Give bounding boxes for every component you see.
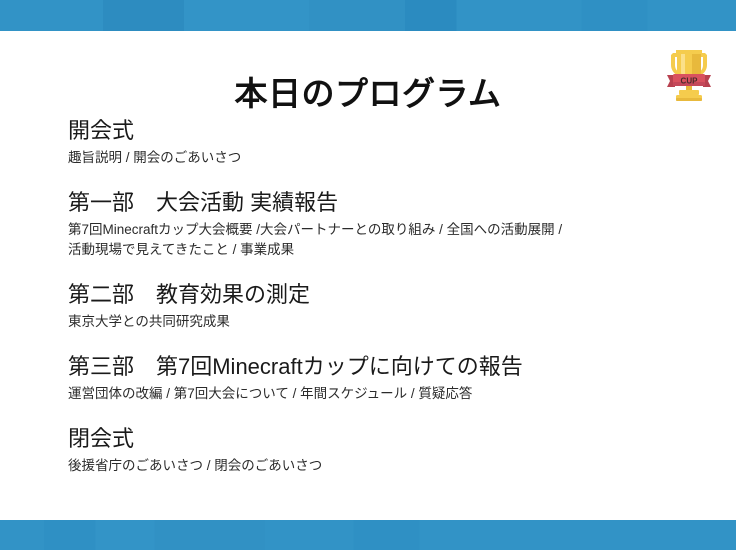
- page-title: 本日のプログラム: [0, 74, 736, 114]
- section-heading: 閉会式: [68, 424, 708, 454]
- program-section-part3: 第三部 第7回Minecraftカップに向けての報告 運営団体の改編 / 第7回…: [68, 352, 708, 404]
- top-accent-bar: [0, 0, 736, 31]
- section-detail: 趣旨説明 / 開会のごあいさつ: [68, 148, 708, 168]
- section-heading: 第三部 第7回Minecraftカップに向けての報告: [68, 352, 708, 382]
- detail-line: 後援省庁のごあいさつ / 閉会のごあいさつ: [68, 456, 708, 476]
- program-section-closing: 閉会式 後援省庁のごあいさつ / 閉会のごあいさつ: [68, 424, 708, 476]
- section-heading: 第一部 大会活動 実績報告: [68, 188, 708, 218]
- section-detail: 運営団体の改編 / 第7回大会について / 年間スケジュール / 質疑応答: [68, 384, 708, 404]
- program-section-opening: 開会式 趣旨説明 / 開会のごあいさつ: [68, 116, 708, 168]
- section-detail: 東京大学との共同研究成果: [68, 312, 708, 332]
- section-heading: 開会式: [68, 116, 708, 146]
- bottom-accent-bar: [0, 520, 736, 550]
- section-detail: 後援省庁のごあいさつ / 閉会のごあいさつ: [68, 456, 708, 476]
- trophy-cup-icon: CUP: [661, 45, 717, 103]
- detail-line: 第7回Minecraftカップ大会概要 /大会パートナーとの取り組み / 全国へ…: [68, 220, 708, 240]
- svg-text:CUP: CUP: [681, 77, 699, 86]
- detail-line: 活動現場で見えてきたこと / 事業成果: [68, 240, 708, 260]
- detail-line: 運営団体の改編 / 第7回大会について / 年間スケジュール / 質疑応答: [68, 384, 708, 404]
- detail-line: 東京大学との共同研究成果: [68, 312, 708, 332]
- detail-line: 趣旨説明 / 開会のごあいさつ: [68, 148, 708, 168]
- program-section-part2: 第二部 教育効果の測定 東京大学との共同研究成果: [68, 280, 708, 332]
- program-section-part1: 第一部 大会活動 実績報告 第7回Minecraftカップ大会概要 /大会パート…: [68, 188, 708, 260]
- section-detail: 第7回Minecraftカップ大会概要 /大会パートナーとの取り組み / 全国へ…: [68, 220, 708, 261]
- slide-canvas: 本日のプログラム C: [0, 0, 736, 550]
- section-heading: 第二部 教育効果の測定: [68, 280, 708, 310]
- program-list: 開会式 趣旨説明 / 開会のごあいさつ 第一部 大会活動 実績報告 第7回Min…: [68, 116, 708, 476]
